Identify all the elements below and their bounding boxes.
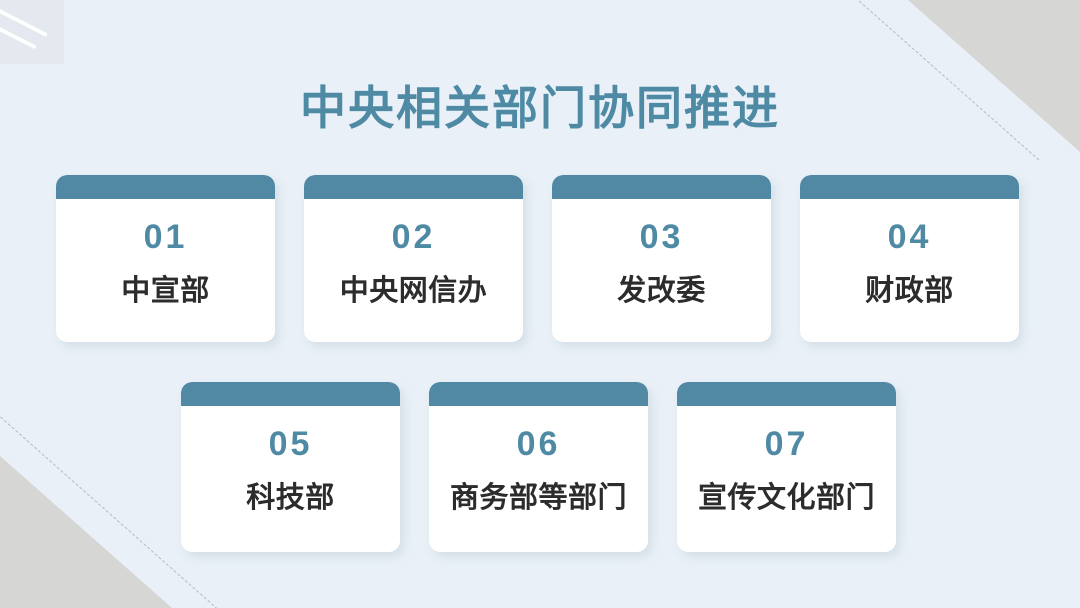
department-card-01[interactable]: 01 中宣部 (56, 175, 275, 342)
department-card-06[interactable]: 06 商务部等部门 (429, 382, 648, 552)
department-card-03[interactable]: 03 发改委 (552, 175, 771, 342)
card-number: 07 (765, 427, 809, 461)
department-card-07[interactable]: 07 宣传文化部门 (677, 382, 896, 552)
card-number: 04 (888, 220, 932, 254)
card-body: 07 宣传文化部门 (677, 406, 896, 552)
card-row-primary: 01 中宣部 02 中央网信办 03 发改委 04 财政部 (56, 175, 1019, 342)
card-label: 商务部等部门 (450, 483, 627, 515)
card-header-bar (56, 175, 275, 199)
dashed-diagonal-line-top-right (851, 0, 1039, 160)
card-header-bar (429, 382, 648, 406)
card-label: 中央网信办 (340, 276, 488, 308)
corner-triangle-bottom-left-decoration (0, 456, 172, 608)
card-body: 04 财政部 (800, 199, 1019, 342)
card-label: 发改委 (617, 276, 706, 308)
card-label: 中宣部 (121, 276, 210, 308)
card-number: 01 (144, 220, 188, 254)
card-body: 03 发改委 (552, 199, 771, 342)
card-body: 02 中央网信办 (304, 199, 523, 342)
card-number: 05 (269, 427, 313, 461)
card-label: 科技部 (246, 483, 335, 515)
slide-canvas: 中央相关部门协同推进 01 中宣部 02 中央网信办 03 发改委 (0, 0, 1080, 608)
card-header-bar (552, 175, 771, 199)
card-number: 06 (517, 427, 561, 461)
department-card-02[interactable]: 02 中央网信办 (304, 175, 523, 342)
card-header-bar (800, 175, 1019, 199)
card-body: 05 科技部 (181, 406, 400, 552)
department-card-05[interactable]: 05 科技部 (181, 382, 400, 552)
diagonal-stroke-icon (0, 8, 48, 37)
page-title: 中央相关部门协同推进 (0, 82, 1080, 135)
card-header-bar (181, 382, 400, 406)
card-body: 06 商务部等部门 (429, 406, 648, 552)
card-header-bar (677, 382, 896, 406)
card-label: 宣传文化部门 (698, 483, 875, 515)
diagonal-stroke-icon (0, 24, 37, 49)
card-header-bar (304, 175, 523, 199)
card-number: 02 (392, 220, 436, 254)
card-row-secondary: 05 科技部 06 商务部等部门 07 宣传文化部门 (181, 382, 896, 552)
card-body: 01 中宣部 (56, 199, 275, 342)
department-card-04[interactable]: 04 财政部 (800, 175, 1019, 342)
card-number: 03 (640, 220, 684, 254)
corner-square-badge-decoration (0, 0, 64, 64)
card-label: 财政部 (865, 276, 954, 308)
